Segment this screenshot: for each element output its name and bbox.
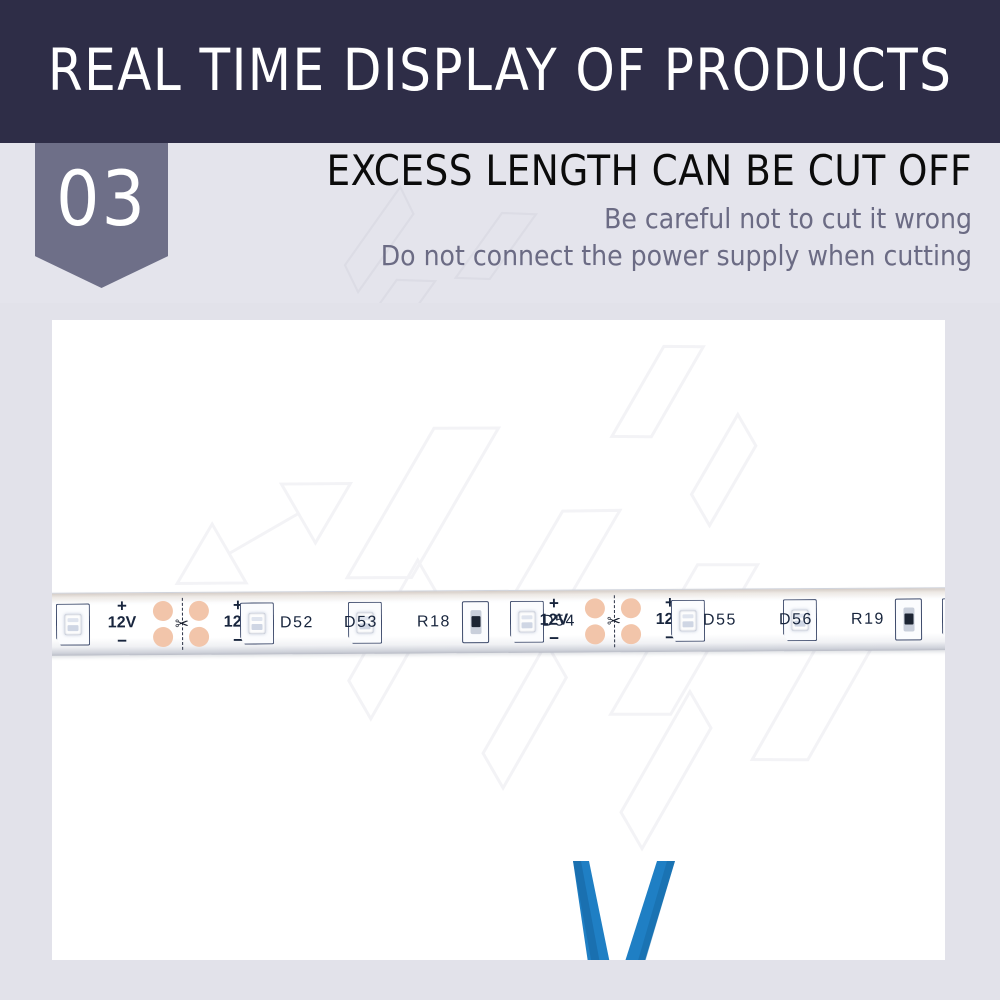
led-emitter [518, 611, 535, 632]
resistor-body [903, 607, 914, 631]
component-designator-label: D53 [344, 614, 378, 632]
component-designator-label: R18 [417, 613, 451, 631]
step-headline: EXCESS LENGTH CAN BE CUT OFF [259, 150, 972, 193]
component-designator-label: D56 [779, 611, 813, 629]
copper-solder-pad [153, 627, 173, 647]
header-banner: REAL TIME DISPLAY OF PRODUCTS [0, 0, 1000, 143]
scissors-icon [519, 861, 709, 960]
copper-solder-pad [153, 601, 173, 621]
resistor-body [470, 610, 481, 634]
copper-solder-pad [621, 598, 641, 618]
voltage-marking-left: +12V− [537, 597, 571, 647]
copper-solder-pad [585, 624, 605, 644]
cut-point-marker: ✂ [577, 590, 651, 652]
component-designator-label: D55 [703, 612, 737, 630]
voltage-marking-left: +12V− [105, 599, 139, 649]
step-subtitle-2: Do not connect the power supply when cut… [252, 238, 972, 275]
component-designator-label: D52 [280, 614, 314, 632]
led-chip-pad [240, 602, 274, 644]
led-strip-board: ✂+12V−+12V−D52D53R18D54✂+12V−+12V−D55D56… [52, 587, 945, 655]
copper-solder-pad [585, 598, 605, 618]
copper-solder-pad [621, 624, 641, 644]
led-emitter [679, 610, 696, 631]
resistor-pad [895, 598, 922, 640]
polarity-minus: − [537, 632, 571, 645]
step-headline-block: EXCESS LENGTH CAN BE CUT OFF Be careful … [252, 150, 972, 275]
step-subtitle-1: Be careful not to cut it wrong [252, 201, 972, 238]
copper-solder-pad [189, 601, 209, 621]
scissors-cut-symbol-icon: ✂ [607, 613, 621, 630]
step-number: 03 [56, 161, 147, 237]
page-bottom-margin [0, 960, 1000, 1000]
resistor-pad [462, 601, 489, 643]
led-emitter [64, 614, 81, 635]
copper-solder-pad [189, 627, 209, 647]
page-title: REAL TIME DISPLAY OF PRODUCTS [48, 41, 953, 103]
led-chip-pad [671, 600, 705, 642]
polarity-plus: + [537, 597, 571, 610]
led-emitter [248, 613, 265, 634]
scissors-cut-symbol-icon: ✂ [175, 615, 189, 632]
cut-point-marker: ✂ [145, 593, 219, 655]
product-photo-panel: ✂+12V−+12V−D52D53R18D54✂+12V−+12V−D55D56… [52, 320, 945, 960]
led-chip-pad [942, 598, 945, 640]
led-chip-pad [56, 603, 90, 645]
led-strip-photo: ✂+12V−+12V−D52D53R18D54✂+12V−+12V−D55D56… [52, 586, 945, 658]
polarity-plus: + [105, 599, 139, 612]
component-designator-label: R19 [851, 611, 885, 629]
polarity-minus: − [105, 634, 139, 647]
